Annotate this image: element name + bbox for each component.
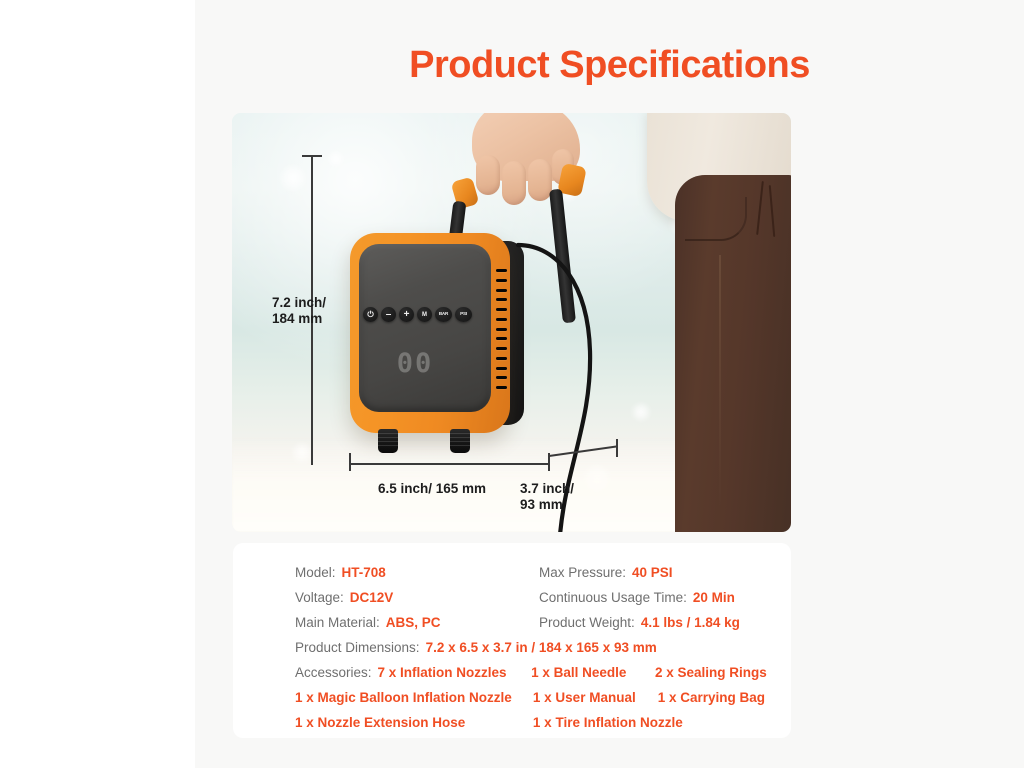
nozzle-port-left [378, 429, 398, 453]
power-icon[interactable]: ⏻ [363, 307, 378, 322]
finger [502, 161, 526, 205]
minus-icon[interactable]: – [381, 307, 396, 322]
vent-slot [496, 328, 507, 331]
vent-slot [496, 279, 507, 282]
spec-value: 40 PSI [632, 565, 673, 580]
spec-continuous-usage-time: Continuous Usage Time: 20 Min [539, 590, 765, 605]
vent-slot [496, 347, 507, 350]
bar-unit-icon[interactable]: BAR [435, 307, 452, 322]
depth-dim-label: 3.7 inch/ 93 mm [520, 481, 574, 514]
spec-value: 20 Min [693, 590, 735, 605]
spec-product-weight: Product Weight: 4.1 lbs / 1.84 kg [539, 615, 765, 630]
accessories-cell: 1 x Magic Balloon Inflation Nozzle [295, 690, 533, 705]
psi-unit-icon[interactable]: PSI [455, 307, 472, 322]
vent-slot [496, 289, 507, 292]
accessory-item: 1 x Tire Inflation Nozzle [533, 715, 683, 730]
plus-icon[interactable]: + [399, 307, 414, 322]
page-title: Product Specifications [195, 44, 1024, 87]
width-dim-tick-left [349, 453, 351, 471]
vent-slot [496, 298, 507, 301]
accessory-item: 1 x Carrying Bag [658, 690, 765, 705]
bokeh-dot [328, 151, 344, 167]
spec-main-material: Main Material: ABS, PC [295, 615, 539, 630]
vent-slot [496, 386, 507, 389]
fabric-crease [719, 255, 721, 505]
finger [476, 155, 500, 195]
device-front-panel [359, 244, 491, 412]
product-photo: ⏻ – + M BAR PSI 00 [232, 113, 791, 532]
person-pants [675, 175, 791, 532]
nozzle-port-right [450, 429, 470, 453]
vent-slot [496, 269, 507, 272]
vent-slot [496, 337, 507, 340]
spec-label: Model: [295, 565, 336, 580]
spec-voltage: Voltage: DC12V [295, 590, 539, 605]
spec-label: Main Material: [295, 615, 380, 630]
spec-value: 7.2 x 6.5 x 3.7 in / 184 x 165 x 93 mm [426, 640, 657, 655]
finger [528, 159, 552, 201]
spec-label: Product Dimensions: [295, 640, 420, 655]
spec-row: Main Material: ABS, PC Product Weight: 4… [295, 610, 765, 635]
spec-label: Continuous Usage Time: [539, 590, 687, 605]
spec-row: Model: HT-708 Max Pressure: 40 PSI [295, 560, 765, 585]
accessories-cell: 1 x Tire Inflation Nozzle [533, 714, 765, 732]
accessories-cell: 1 x Nozzle Extension Hose [295, 715, 533, 730]
spec-label: Product Weight: [539, 615, 635, 630]
spec-label: Max Pressure: [539, 565, 626, 580]
accessories-label: Accessories: [295, 665, 372, 680]
spec-row-dimensions: Product Dimensions: 7.2 x 6.5 x 3.7 in /… [295, 635, 765, 660]
hand [464, 113, 590, 211]
depth-dim-tick-right [616, 439, 618, 457]
vent-slot [496, 318, 507, 321]
control-button-row: ⏻ – + M BAR PSI [363, 307, 472, 322]
width-dim-label: 6.5 inch/ 165 mm [378, 481, 486, 497]
accessories-cell: 1 x User Manual [533, 689, 658, 707]
product-specifications-page: Product Specifications [0, 0, 1024, 768]
accessories-cell: 1 x Ball Needle [531, 664, 655, 682]
vent-slot [496, 367, 507, 370]
accessory-item: 1 x Ball Needle [531, 665, 626, 680]
drawstring [769, 185, 776, 237]
vent-slot [496, 308, 507, 311]
bokeh-dot [632, 403, 650, 421]
accessories-row: Accessories: 7 x Inflation Nozzles 1 x B… [295, 660, 765, 685]
led-display: 00 [387, 345, 443, 381]
specifications-grid: Model: HT-708 Max Pressure: 40 PSI Volta… [295, 560, 765, 735]
specifications-card: Model: HT-708 Max Pressure: 40 PSI Volta… [233, 543, 791, 738]
accessory-item: 7 x Inflation Nozzles [378, 665, 507, 680]
spec-value: 4.1 lbs / 1.84 kg [641, 615, 740, 630]
height-dim-label: 7.2 inch/ 184 mm [272, 295, 326, 328]
air-compressor-device: ⏻ – + M BAR PSI 00 [350, 233, 532, 445]
accessory-item: 2 x Sealing Rings [655, 665, 767, 680]
accessory-item: 1 x Magic Balloon Inflation Nozzle [295, 690, 512, 705]
vent-slot [496, 376, 507, 379]
accessories-row: 1 x Magic Balloon Inflation Nozzle 1 x U… [295, 685, 765, 710]
accessories-row: 1 x Nozzle Extension Hose 1 x Tire Infla… [295, 710, 765, 735]
bokeh-dot [280, 165, 306, 191]
spec-label: Voltage: [295, 590, 344, 605]
accessories-cell: 2 x Sealing Rings [655, 664, 765, 682]
vent-grille [496, 269, 508, 389]
accessories-cell: 1 x Carrying Bag [658, 689, 765, 707]
spec-max-pressure: Max Pressure: 40 PSI [539, 565, 765, 580]
spec-row: Voltage: DC12V Continuous Usage Time: 20… [295, 585, 765, 610]
spec-value: HT-708 [342, 565, 386, 580]
accessory-item: 1 x Nozzle Extension Hose [295, 715, 465, 730]
drawstring [756, 181, 764, 235]
pocket-seam [685, 197, 747, 241]
spec-value: DC12V [350, 590, 394, 605]
spec-value: ABS, PC [386, 615, 441, 630]
width-dim-line [349, 463, 549, 465]
spec-product-dimensions: Product Dimensions: 7.2 x 6.5 x 3.7 in /… [295, 640, 765, 655]
spec-model: Model: HT-708 [295, 565, 539, 580]
accessory-item: 1 x User Manual [533, 690, 636, 705]
accessories-first-cell: Accessories: 7 x Inflation Nozzles [295, 665, 531, 680]
vent-slot [496, 357, 507, 360]
mode-icon[interactable]: M [417, 307, 432, 322]
